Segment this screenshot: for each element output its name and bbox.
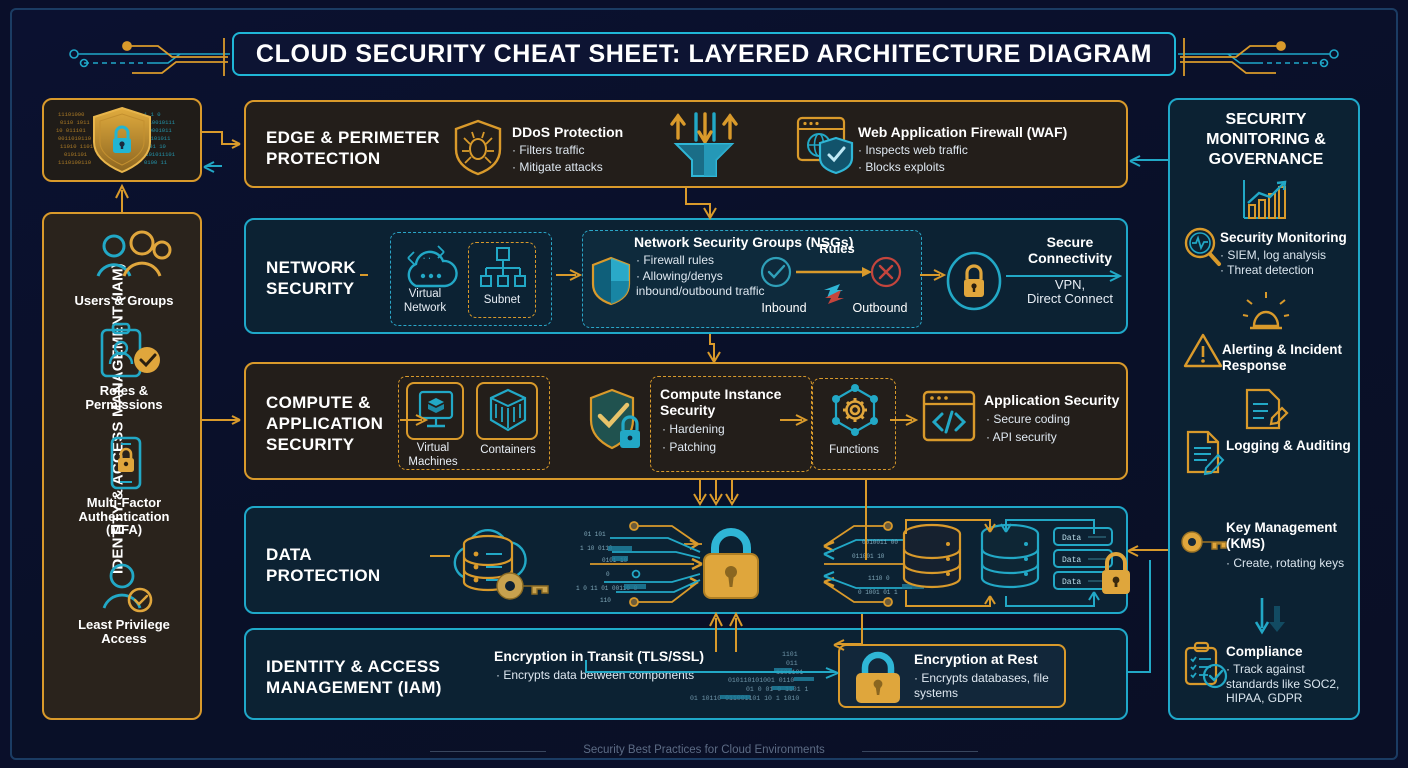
- shield-bug-icon: [452, 118, 504, 176]
- encryption-rest-heading: Encryption at Rest: [914, 651, 1038, 667]
- row-data-protection: DATA PROTECTION: [244, 506, 1128, 614]
- row-edge-perimeter: EDGE & PERIMETER PROTECTION DDoS Protect…: [244, 100, 1128, 188]
- encryption-transit-heading: Encryption in Transit (TLS/SSL): [494, 648, 704, 664]
- encryption-rest-bullet: · Encrypts databases, file systems: [914, 671, 1064, 701]
- monitor-vm-icon: [418, 390, 454, 432]
- svg-text:1110100110: 1110100110: [58, 159, 91, 166]
- svg-text:0: 0: [606, 571, 610, 578]
- iam-shield-badge: 111010000110 1011 10 0111010011010110 11…: [42, 98, 202, 182]
- governance-panel: SECURITY MONITORING & GOVERNANCE Securi: [1168, 98, 1360, 720]
- page-title: CLOUD SECURITY CHEAT SHEET: LAYERED ARCH…: [256, 40, 1152, 69]
- data-flow-connectors: [886, 508, 1146, 616]
- row-iam-encryption: IDENTITY & ACCESS MANAGEMENT (IAM) Encry…: [244, 628, 1128, 720]
- compute-bullet-0: · Hardening: [662, 422, 725, 437]
- containers-label: Containers: [474, 444, 542, 458]
- row-network-title: NETWORK SECURITY: [266, 257, 356, 299]
- iam-item-label-0: Users & Groups: [44, 294, 204, 308]
- gov-heading-2: Logging & Auditing: [1226, 438, 1358, 454]
- svg-text:01 101: 01 101: [584, 531, 606, 538]
- svg-text:1 10 0110: 1 10 0110: [580, 545, 613, 552]
- cloud-database-key-icon: [440, 514, 556, 610]
- waf-heading: Web Application Firewall (WAF): [858, 124, 1067, 140]
- document-edit-icon: [1184, 430, 1228, 474]
- gov-bullet-0-0: · SIEM, log analysis: [1220, 248, 1362, 263]
- browser-code-icon: [922, 390, 976, 444]
- footer-text: Security Best Practices for Cloud Enviro…: [0, 744, 1408, 756]
- iam-item-label-2: Multi-Factor Authentication (MFA): [44, 496, 204, 537]
- header-band: CLOUD SECURITY CHEAT SHEET: LAYERED ARCH…: [0, 10, 1408, 72]
- app-security-bullet-1: · API security: [986, 430, 1057, 445]
- svg-text:0100 11: 0100 11: [144, 159, 168, 166]
- row-data-title: DATA PROTECTION: [266, 544, 380, 586]
- iam-item-label-1: Roles & Permissions: [44, 384, 204, 411]
- padlock-big-icon: [698, 522, 764, 602]
- user-check-icon: [100, 562, 156, 614]
- svg-text:0110 1011: 0110 1011: [60, 119, 90, 126]
- nsg-inbound-label: Inbound: [748, 302, 820, 316]
- svg-text:011: 011: [786, 660, 798, 667]
- iam-left-panel: IDENTITY & ACCESS MANAGEMENT (IAM) Users…: [42, 212, 202, 720]
- virtual-network-label: Virtual Network: [392, 288, 458, 315]
- app-security-bullet-0: · Secure coding: [986, 412, 1070, 427]
- funnel-arrows-icon: [662, 110, 746, 184]
- svg-text:110: 110: [600, 597, 611, 604]
- svg-text:11101000: 11101000: [58, 111, 84, 118]
- svg-text:0011010110: 0011010110: [58, 135, 91, 142]
- svg-text:11010 1101: 11010 1101: [60, 143, 94, 150]
- compute-instance-heading: Compute Instance Security: [660, 386, 806, 418]
- row-edge-title: EDGE & PERIMETER PROTECTION: [266, 127, 440, 169]
- key-icon: [1180, 528, 1228, 556]
- warning-triangle-icon: [1182, 332, 1224, 370]
- clipboard-user-check-icon: [96, 322, 168, 380]
- secure-connectivity-heading: Secure Connectivity: [1014, 234, 1126, 266]
- nsg-outbound-label: Outbound: [838, 302, 922, 316]
- padlock-icon: [850, 650, 906, 704]
- row-iam-title: IDENTITY & ACCESS MANAGEMENT (IAM): [266, 656, 442, 698]
- row-compute-title: COMPUTE & APPLICATION SECURITY: [266, 392, 383, 455]
- compute-bullet-1: · Patching: [662, 440, 716, 455]
- shield-check-lock-icon: [588, 388, 646, 456]
- governance-panel-title: SECURITY MONITORING & GOVERNANCE: [1178, 110, 1354, 170]
- virtual-machines-label: Virtual Machines: [398, 442, 468, 469]
- ddos-heading: DDoS Protection: [512, 124, 623, 140]
- svg-text:0101101: 0101101: [64, 151, 88, 158]
- diagram-canvas: CLOUD SECURITY CHEAT SHEET: LAYERED ARCH…: [0, 0, 1408, 768]
- shield-lock-icon: 111010000110 1011 10 0111010011010110 11…: [44, 100, 200, 180]
- container-cube-icon: [488, 388, 528, 434]
- row-network-security: NETWORK SECURITY ··· Virtual Network: [244, 218, 1128, 334]
- hex-gear-icon: [830, 384, 880, 440]
- waf-bullet-0: · Inspects web traffic: [858, 143, 968, 158]
- subnet-tree-icon: [480, 246, 526, 290]
- svg-text:011001 10: 011001 10: [852, 553, 885, 560]
- iam-item-label-3: Least Privilege Access: [44, 618, 204, 645]
- binary-stream-decoration: 1101011 1101101010110101001 0110 01 0 01…: [676, 644, 836, 708]
- gov-bullet-0-1: · Threat detection: [1220, 263, 1362, 278]
- svg-text:1101: 1101: [782, 651, 798, 658]
- functions-label: Functions: [812, 444, 896, 458]
- lock-circle-icon: [946, 252, 1002, 310]
- gov-heading-4: Compliance: [1226, 644, 1358, 660]
- row-compute-application: COMPUTE & APPLICATION SECURITY Virtual M…: [244, 362, 1128, 480]
- clipboard-check-icon: [1182, 642, 1228, 688]
- nsg-bullet-0: · Firewall rules: [636, 253, 714, 268]
- arrow-down-icon: [1248, 596, 1288, 638]
- shield-quad-icon: [590, 256, 632, 306]
- magnifier-pulse-icon: [1180, 226, 1222, 268]
- secure-connectivity-sub: VPN, Direct Connect: [1012, 278, 1128, 305]
- svg-text:10 011101: 10 011101: [56, 127, 86, 134]
- bar-chart-growth-icon: [1240, 178, 1290, 222]
- app-security-heading: Application Security: [984, 392, 1119, 408]
- main-title-box: CLOUD SECURITY CHEAT SHEET: LAYERED ARCH…: [232, 32, 1176, 76]
- subnet-label: Subnet: [468, 294, 536, 308]
- gov-heading-0: Security Monitoring: [1220, 230, 1362, 246]
- gov-heading-1: Alerting & Incident Response: [1222, 342, 1362, 374]
- cloud-dots-icon: ···: [402, 242, 462, 288]
- alarm-siren-icon: [1242, 290, 1290, 334]
- users-group-icon: [92, 230, 174, 282]
- document-pencil-icon: [1242, 388, 1288, 430]
- svg-text:010110101001 0110: 010110101001 0110: [728, 677, 794, 684]
- waf-bullet-1: · Blocks exploits: [858, 160, 945, 175]
- gov-heading-3: Key Management (KMS): [1226, 520, 1360, 552]
- gov-bullet-4-0: · Track against standards like SOC2, HIP…: [1226, 662, 1358, 706]
- gov-bullet-3-0: · Create, rotating keys: [1226, 556, 1356, 571]
- mobile-lock-icon: [104, 436, 148, 492]
- browser-globe-shield-icon: [796, 116, 856, 174]
- ddos-bullet-1: · Mitigate attacks: [512, 160, 603, 175]
- ddos-bullet-0: · Filters traffic: [512, 143, 584, 158]
